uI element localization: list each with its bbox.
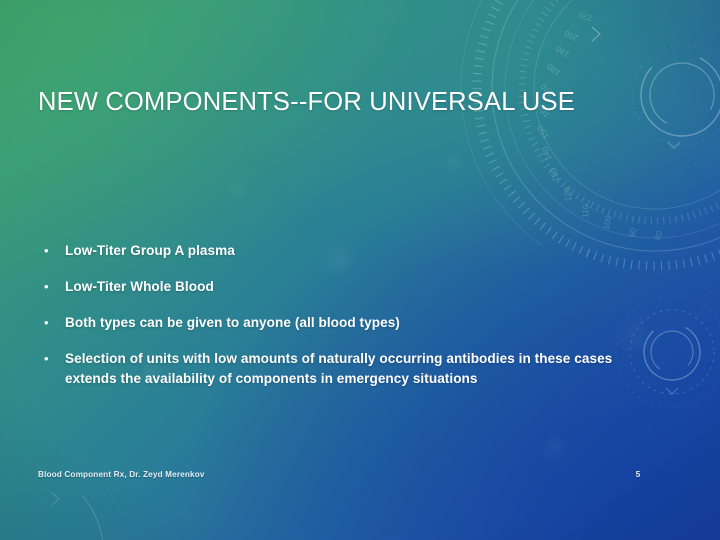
list-item: • Low-Titer Group A plasma — [40, 241, 658, 261]
bullet-point-icon: • — [40, 277, 65, 296]
svg-text:190: 190 — [554, 44, 572, 60]
bullet-point-icon: • — [40, 349, 65, 368]
svg-text:220: 220 — [577, 10, 594, 24]
arc-bottom-left — [0, 436, 128, 540]
svg-text:180: 180 — [545, 61, 563, 78]
slide-number: 5 — [627, 469, 649, 479]
bullet-text: Selection of units with low amounts of n… — [65, 349, 658, 388]
svg-text:100: 100 — [601, 214, 613, 230]
svg-text:90: 90 — [626, 226, 638, 238]
bullet-text: Low-Titer Whole Blood — [65, 277, 658, 297]
slide-footer: Blood Component Rx, Dr. Zeyd Merenkov — [38, 470, 205, 479]
bullet-text: Low-Titer Group A plasma — [65, 241, 658, 261]
svg-text:110: 110 — [580, 204, 590, 218]
svg-text:80: 80 — [652, 229, 665, 242]
list-item: • Selection of units with low amounts of… — [40, 349, 658, 388]
svg-text:130: 130 — [548, 166, 561, 182]
bullet-text: Both types can be given to anyone (all b… — [65, 313, 658, 333]
svg-text:140: 140 — [539, 145, 554, 162]
bullet-point-icon: • — [40, 313, 65, 332]
list-item: • Both types can be given to anyone (all… — [40, 313, 658, 333]
slide-title: NEW COMPONENTS--FOR UNIVERSAL USE — [38, 88, 658, 117]
svg-text:120: 120 — [562, 186, 573, 201]
bullet-point-icon: • — [40, 241, 65, 260]
compass-degree-labels: 220 200 190 180 170 160 150 140 130 120 … — [535, 10, 665, 242]
list-item: • Low-Titer Whole Blood — [40, 277, 658, 297]
bullet-list: • Low-Titer Group A plasma • Low-Titer W… — [40, 241, 658, 405]
svg-text:200: 200 — [563, 28, 580, 43]
svg-text:150: 150 — [535, 123, 551, 141]
presentation-slide: 220 200 190 180 170 160 150 140 130 120 … — [0, 0, 720, 540]
